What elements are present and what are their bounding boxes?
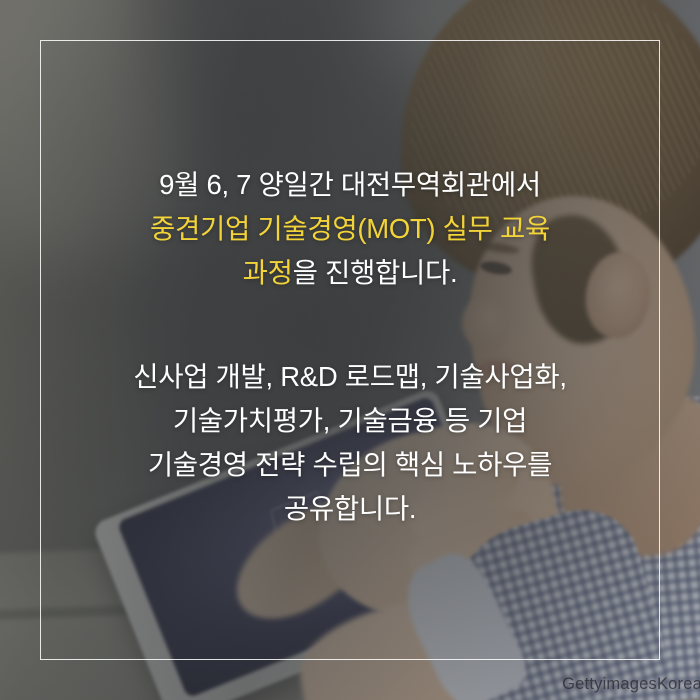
promo-card: 9월 6, 7 양일간 대전무역회관에서 중견기업 기술경영(MOT) 실무 교…	[0, 0, 700, 700]
copy-spacer	[0, 295, 700, 355]
getty-watermark: GettyimagesKorea	[562, 675, 700, 694]
announcement-line-3: 과정을 진행합니다.	[0, 251, 700, 295]
card-copy: 9월 6, 7 양일간 대전무역회관에서 중견기업 기술경영(MOT) 실무 교…	[0, 163, 700, 531]
details-line-3: 기술경영 전략 수립의 핵심 노하우를	[0, 443, 700, 487]
details-line-1: 신사업 개발, R&D 로드맵, 기술사업화,	[0, 355, 700, 399]
details-line-2: 기술가치평가, 기술금융 등 기업	[0, 399, 700, 443]
details-block: 신사업 개발, R&D 로드맵, 기술사업화, 기술가치평가, 기술금융 등 기…	[0, 355, 700, 531]
details-line-4: 공유합니다.	[0, 487, 700, 531]
announcement-line-3-highlight: 과정	[243, 257, 293, 288]
announcement-block: 9월 6, 7 양일간 대전무역회관에서 중견기업 기술경영(MOT) 실무 교…	[0, 163, 700, 295]
announcement-line-2: 중견기업 기술경영(MOT) 실무 교육	[0, 207, 700, 251]
announcement-line-1: 9월 6, 7 양일간 대전무역회관에서	[0, 163, 700, 207]
announcement-line-3-rest: 을 진행합니다.	[293, 257, 458, 288]
